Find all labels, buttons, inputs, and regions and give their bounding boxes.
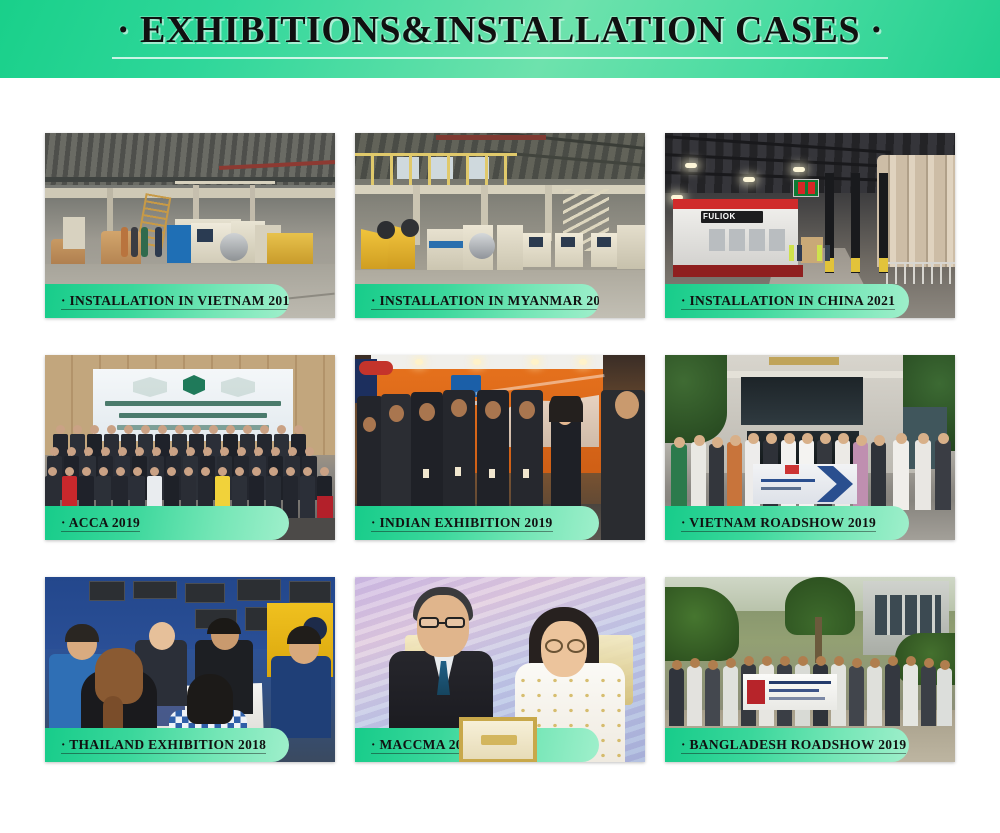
attendee-head xyxy=(744,656,754,666)
product-display-panel xyxy=(133,581,177,599)
product-display-panel xyxy=(289,581,331,603)
attendee-hair xyxy=(187,674,233,724)
building-windows xyxy=(875,595,941,635)
attendee-head xyxy=(798,656,808,666)
steel-roller xyxy=(220,233,248,261)
person xyxy=(300,467,315,524)
card-caption-bar: · THAILAND EXHIBITION 2018 xyxy=(45,728,289,762)
attendee-head xyxy=(784,433,795,444)
worker xyxy=(121,227,128,257)
blue-machine-module xyxy=(167,225,193,263)
visitor xyxy=(357,396,383,506)
mezzanine-guardrail xyxy=(355,153,517,185)
attendee-head xyxy=(780,656,790,666)
product-display-panel xyxy=(89,581,125,601)
attendee xyxy=(921,666,936,726)
visitor-face xyxy=(363,417,376,432)
blue-machine-module xyxy=(429,241,463,248)
far-machine xyxy=(617,225,645,269)
ceiling-lamp xyxy=(685,163,697,168)
attendee xyxy=(903,664,918,726)
attendee-head xyxy=(712,437,723,448)
worker xyxy=(797,245,802,261)
foreground-visitor-face xyxy=(615,391,639,419)
gallery-card-china-factory[interactable]: FULIOK xyxy=(665,133,955,318)
attendee xyxy=(935,440,951,510)
presenter-glasses-right xyxy=(445,617,465,628)
card-caption-text: · VIETNAM ROADSHOW 2019 xyxy=(681,515,876,532)
page-title: · EXHIBITIONS&INSTALLATION CASES · xyxy=(0,8,1000,52)
attendee-head xyxy=(918,433,929,444)
banner-text-line xyxy=(769,681,831,684)
spotlight xyxy=(531,359,539,365)
product-display-panel xyxy=(237,579,281,601)
page-banner: · EXHIBITIONS&INSTALLATION CASES · xyxy=(0,0,1000,78)
attendee xyxy=(723,666,738,726)
attendee xyxy=(915,440,931,510)
ponytail-hair xyxy=(95,648,143,704)
attendee-head xyxy=(874,435,885,446)
attendee xyxy=(669,668,684,726)
control-panel-screen xyxy=(197,229,213,242)
delegate-face xyxy=(419,403,435,421)
presenter-glasses-left xyxy=(419,617,439,628)
spotlight xyxy=(473,359,481,365)
card-caption-bar: · INSTALLATION IN CHINA 2021 xyxy=(665,284,909,318)
staff-head xyxy=(149,622,175,650)
card-caption-text: · INSTALLATION IN VIETNAM 2019 xyxy=(61,293,289,310)
gallery-card-indian-exhibition[interactable]: · INDIAN EXHIBITION 2019 xyxy=(355,355,645,540)
product-display-panel xyxy=(185,583,225,603)
attendee-head xyxy=(896,433,907,444)
gallery-card-vietnam-roadshow[interactable]: · VIETNAM ROADSHOW 2019 xyxy=(665,355,955,540)
worker-hi-vis xyxy=(789,245,794,261)
worker xyxy=(825,245,830,261)
gallery-card-myanmar-factory[interactable]: · INSTALLATION IN MYANMAR 2019 xyxy=(355,133,645,318)
attendee-head xyxy=(852,658,862,668)
card-caption-text: · INSTALLATION IN CHINA 2021 xyxy=(681,293,895,310)
tree-foliage xyxy=(665,355,727,443)
exit-sign-glyph xyxy=(798,182,805,194)
attendee-head xyxy=(674,437,685,448)
gallery-row: · THAILAND EXHIBITION 2018 xyxy=(45,577,955,762)
name-badge xyxy=(489,469,495,478)
production-machine xyxy=(497,225,523,271)
banner-text-line xyxy=(769,689,819,692)
attendee xyxy=(893,440,909,510)
delegate-face xyxy=(389,405,404,422)
slide-text-line xyxy=(105,401,281,406)
gallery-row: · INSTALLATION IN VIETNAM 2019 xyxy=(45,133,955,318)
attendee xyxy=(885,664,900,726)
attendee xyxy=(671,444,687,510)
exit-sign-glyph xyxy=(808,182,815,194)
attendee-head xyxy=(730,435,741,446)
gallery-card-bangladesh-roadshow[interactable]: · BANGLADESH ROADSHOW 2019 xyxy=(665,577,955,762)
worker xyxy=(141,227,148,257)
card-caption-bar: · VIETNAM ROADSHOW 2019 xyxy=(665,506,909,540)
award-plaque-emblem xyxy=(481,735,517,745)
presenter-glasses-bridge xyxy=(439,622,447,624)
card-caption-text: · BANGLADESH ROADSHOW 2019 xyxy=(681,737,906,754)
card-caption-text: · INSTALLATION IN MYANMAR 2019 xyxy=(371,293,599,310)
name-badge xyxy=(523,469,529,478)
attendee-head xyxy=(938,433,949,444)
banner-text-line xyxy=(761,479,815,482)
ceiling-lamp xyxy=(743,177,755,182)
forklift xyxy=(267,233,313,265)
mezzanine-deck xyxy=(45,188,335,198)
worker-hi-vis xyxy=(817,245,822,261)
card-caption-bar: · ACCA 2019 xyxy=(45,506,289,540)
paper-reel-stack xyxy=(877,155,955,267)
attendee-head xyxy=(708,660,718,670)
recipient-glasses-right xyxy=(567,639,585,653)
title-underline-rule xyxy=(112,57,888,59)
card-caption-text: · THAILAND EXHIBITION 2018 xyxy=(61,737,266,754)
attendee-head xyxy=(906,656,916,666)
steel-roller xyxy=(469,233,495,259)
attendee-head xyxy=(940,660,950,670)
attendee-head xyxy=(690,658,700,668)
console-screen xyxy=(561,237,575,247)
spotlight xyxy=(415,359,423,365)
card-caption-bar: · INDIAN EXHIBITION 2019 xyxy=(355,506,599,540)
attendee-head xyxy=(726,658,736,668)
ceiling-lamp xyxy=(793,167,805,172)
attendee-head xyxy=(820,433,831,444)
gallery-card-vietnam-factory[interactable]: · INSTALLATION IN VIETNAM 2019 xyxy=(45,133,335,318)
column-hazard-marking xyxy=(851,258,860,272)
attendee-head xyxy=(924,658,934,668)
attendee-head xyxy=(856,435,867,446)
machine-window xyxy=(729,229,745,251)
roll-drum xyxy=(401,219,419,237)
delegate-face xyxy=(485,401,501,419)
attendee-head xyxy=(834,656,844,666)
machine-top-stripe xyxy=(673,199,798,209)
handrail xyxy=(175,181,275,184)
gallery-card-thailand-exhibition[interactable]: · THAILAND EXHIBITION 2018 xyxy=(45,577,335,762)
attendee xyxy=(849,666,864,726)
worker xyxy=(155,227,162,257)
card-caption-bar: · BANGLADESH ROADSHOW 2019 xyxy=(665,728,909,762)
attendee xyxy=(687,666,702,726)
gallery-card-acca-group[interactable]: · ACCA 2019 xyxy=(45,355,335,540)
exit-sign xyxy=(793,179,819,197)
gallery-card-maccma-award[interactable]: · MACCMA 2018 xyxy=(355,577,645,762)
attendee xyxy=(709,444,724,510)
name-badge xyxy=(423,469,429,478)
console-screen xyxy=(597,237,611,247)
card-caption-text: · INDIAN EXHIBITION 2019 xyxy=(371,515,553,532)
attendee-head xyxy=(694,435,705,446)
console-screen xyxy=(529,237,543,247)
attendee xyxy=(691,442,706,510)
delegate-face xyxy=(519,401,535,419)
machine-window xyxy=(749,229,765,251)
banner-red-mark xyxy=(747,680,765,704)
attendee-head xyxy=(748,433,759,444)
card-caption-bar: · INSTALLATION IN MYANMAR 2019 xyxy=(355,284,599,318)
attendee-head xyxy=(672,660,682,670)
roll-drum xyxy=(377,221,395,239)
name-badge xyxy=(455,467,461,476)
slide-text-line xyxy=(119,413,267,418)
banner-text-line xyxy=(769,697,825,700)
spotlight xyxy=(579,359,587,365)
building-window xyxy=(741,377,863,425)
attendee-head xyxy=(762,656,772,666)
attendee-head xyxy=(838,433,849,444)
seated-visitor xyxy=(271,656,331,738)
attendee xyxy=(705,668,720,726)
machine-base xyxy=(673,265,803,277)
delegate-face xyxy=(451,399,467,417)
building-sign xyxy=(769,357,839,365)
gallery-row: · ACCA 2019 xyxy=(45,355,955,540)
attendee xyxy=(937,668,952,726)
gallery-grid: · INSTALLATION IN VIETNAM 2019 xyxy=(0,78,1000,762)
attendee-head xyxy=(870,658,880,668)
attendee xyxy=(871,442,886,510)
recipient-glasses-left xyxy=(545,639,563,653)
red-arc-decor xyxy=(359,361,393,375)
card-caption-bar: · INSTALLATION IN VIETNAM 2019 xyxy=(45,284,289,318)
attendee-head xyxy=(888,656,898,666)
safety-fence xyxy=(879,262,955,284)
worker xyxy=(131,227,138,257)
attendee xyxy=(867,666,882,726)
column-hazard-marking xyxy=(879,258,888,272)
attendee-head xyxy=(766,433,777,444)
hostess-hair xyxy=(549,396,583,422)
attendee xyxy=(727,442,742,510)
banner-flag-mark xyxy=(785,465,799,474)
red-beam xyxy=(436,135,546,140)
electrical-cabinet xyxy=(63,217,85,249)
machine-window xyxy=(769,229,785,251)
attendee-head xyxy=(816,656,826,666)
machine-window xyxy=(709,229,725,251)
banner-text-line xyxy=(761,487,801,490)
attendee-head xyxy=(802,433,813,444)
booth-header-strip xyxy=(371,355,603,369)
production-machine xyxy=(427,229,463,271)
machine-brand-text: FULIOK xyxy=(703,212,761,221)
card-caption-text: · ACCA 2019 xyxy=(61,515,140,532)
